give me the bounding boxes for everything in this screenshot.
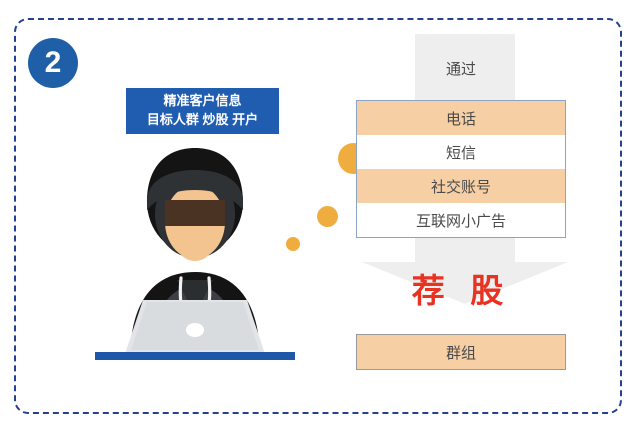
hooded-hacker-illustration <box>95 140 295 360</box>
channel-label-internet-ads: 互联网小广告 <box>416 210 506 231</box>
speech-dot-medium <box>317 206 338 227</box>
channel-label-phone: 电话 <box>446 108 476 129</box>
emphasis-label-stock-recommendation: 荐 股 <box>356 264 566 312</box>
speech-dot-small <box>286 237 300 251</box>
channel-row-sms[interactable]: 短信 <box>357 135 565 169</box>
hacker-eye-shadow <box>165 200 225 226</box>
caption-line-2: 目标人群 炒股 开户 <box>147 111 258 130</box>
step-number-badge: 2 <box>28 38 78 88</box>
channel-row-social-account[interactable]: 社交账号 <box>357 169 565 203</box>
channel-row-phone[interactable]: 电话 <box>357 101 565 135</box>
channel-row-internet-ads[interactable]: 互联网小广告 <box>357 203 565 237</box>
caption-line-1: 精准客户信息 <box>163 92 241 111</box>
channel-list-box: 电话 短信 社交账号 互联网小广告 <box>356 100 566 238</box>
channel-label-sms: 短信 <box>446 142 476 163</box>
channel-label-social-account: 社交账号 <box>431 176 491 197</box>
desk-bar <box>95 352 295 360</box>
target-customer-caption-box: 精准客户信息 目标人群 炒股 开户 <box>126 88 279 134</box>
step-number-label: 2 <box>45 48 62 78</box>
hacker-chin <box>179 235 211 261</box>
result-group-label: 群组 <box>446 342 476 363</box>
poster-canvas: 2 精准客户信息 目标人群 炒股 开户 <box>0 0 640 434</box>
flow-heading-label: 通过 <box>356 58 566 79</box>
result-group-box: 群组 <box>356 334 566 370</box>
laptop-logo <box>186 323 204 337</box>
